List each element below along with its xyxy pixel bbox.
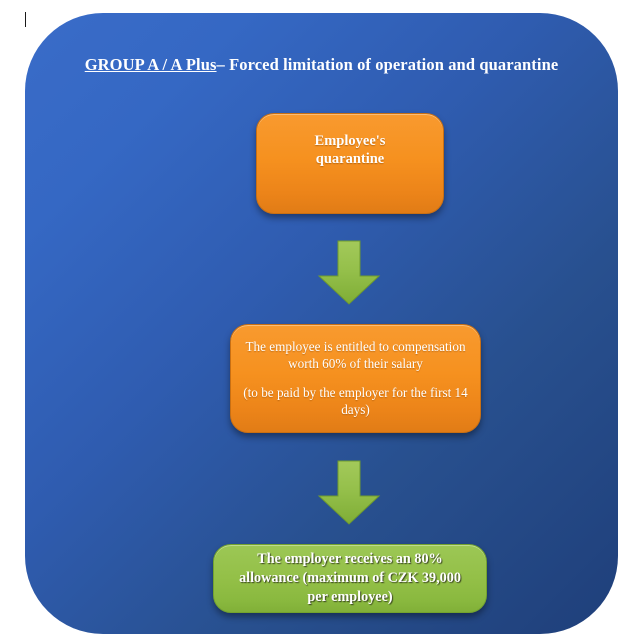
node-compensation[interactable]: The employee is entitled to compensation… — [230, 324, 481, 433]
node-employees-quarantine[interactable]: Employee's quarantine — [256, 113, 444, 214]
node-employees-quarantine-line-2: quarantine — [316, 150, 385, 168]
node-employer-allowance[interactable]: The employer receives an 80% allowance (… — [213, 544, 487, 613]
page-title-rest: – Forced limitation of operation and qua… — [217, 55, 559, 74]
arrow-down-icon — [317, 460, 381, 526]
node-compensation-paragraph-2: (to be paid by the employer for the firs… — [243, 384, 468, 418]
node-employer-allowance-paragraph-1: The employer receives an 80% allowance (… — [230, 550, 470, 606]
node-compensation-paragraph-1: The employee is entitled to compensation… — [243, 338, 468, 372]
text-caret — [25, 12, 26, 27]
node-employees-quarantine-line-1: Employee's — [315, 132, 386, 150]
page-title: GROUP A / A Plus– Forced limitation of o… — [25, 55, 618, 75]
arrow-down-icon — [317, 240, 381, 306]
flowchart-panel: GROUP A / A Plus– Forced limitation of o… — [25, 13, 618, 634]
page-title-underlined: GROUP A / A Plus — [85, 55, 217, 74]
